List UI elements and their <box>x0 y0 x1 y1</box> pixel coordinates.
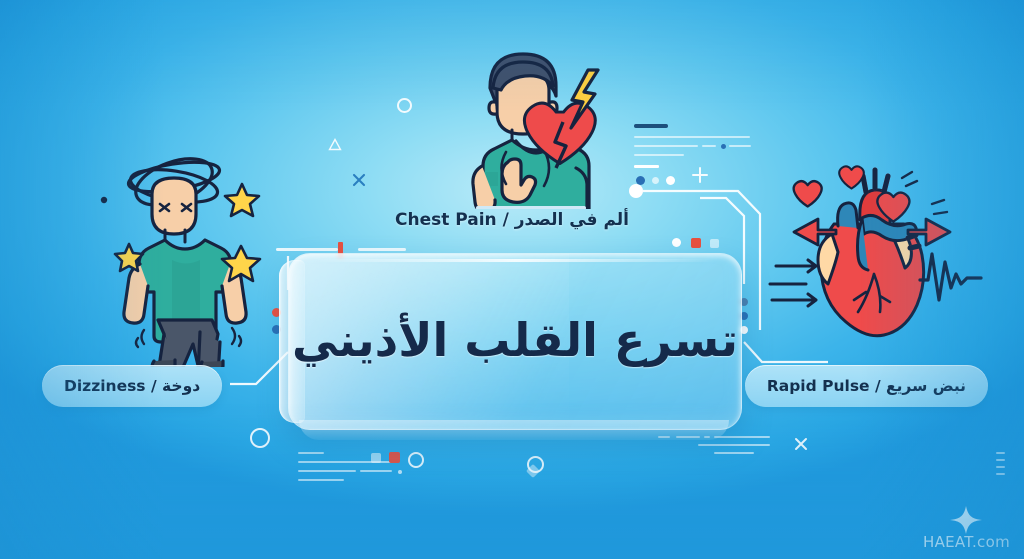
label-dizziness: دوخة / Dizziness <box>42 365 222 407</box>
dizziness-illustration <box>96 142 286 367</box>
infographic-canvas: تسرع القلب الأذيني ألم في الصدر / Chest … <box>0 0 1024 559</box>
plus-mark-icon <box>691 166 709 184</box>
tech-dashed-lines-bottom <box>658 436 788 466</box>
label-chest-pain: ألم في الصدر / Chest Pain <box>0 210 1024 230</box>
circle-outline-icon-4 <box>527 456 544 473</box>
x-mark-icon-2 <box>793 436 809 452</box>
chest-pain-illustration <box>446 44 621 209</box>
decor-square-pale-2 <box>371 453 381 463</box>
page-title: تسرع القلب الأذيني <box>289 254 741 429</box>
decor-dot-white <box>666 176 675 185</box>
label-rapid-pulse: نبض سريع / Rapid Pulse <box>745 365 988 407</box>
watermark: HAEAT.com <box>923 505 1010 551</box>
decor-square-red-2 <box>389 452 400 463</box>
title-glass-panel: تسرع القلب الأذيني <box>288 253 742 430</box>
circle-outline-icon <box>397 98 412 113</box>
circle-outline-icon-3 <box>408 452 424 468</box>
x-mark-icon <box>352 173 366 187</box>
circle-outline-icon-2 <box>250 428 270 448</box>
decor-square-red <box>691 238 701 248</box>
decor-diamond <box>526 464 540 478</box>
tech-text-block-bottom <box>298 452 438 492</box>
sparkle-star-icon <box>949 505 983 535</box>
edge-tick-cluster <box>996 452 1006 478</box>
tech-text-block-top <box>634 124 764 184</box>
decor-dot-pale <box>652 177 659 184</box>
watermark-text: HAEAT.com <box>923 533 1010 551</box>
decor-dot-white-3 <box>672 238 681 247</box>
rapid-pulse-heart-illustration <box>762 162 994 344</box>
decor-square-pale <box>710 239 719 248</box>
triangle-outline-icon <box>328 138 342 151</box>
decor-dot-navy <box>636 176 645 185</box>
marker-line-left-2 <box>358 248 406 251</box>
